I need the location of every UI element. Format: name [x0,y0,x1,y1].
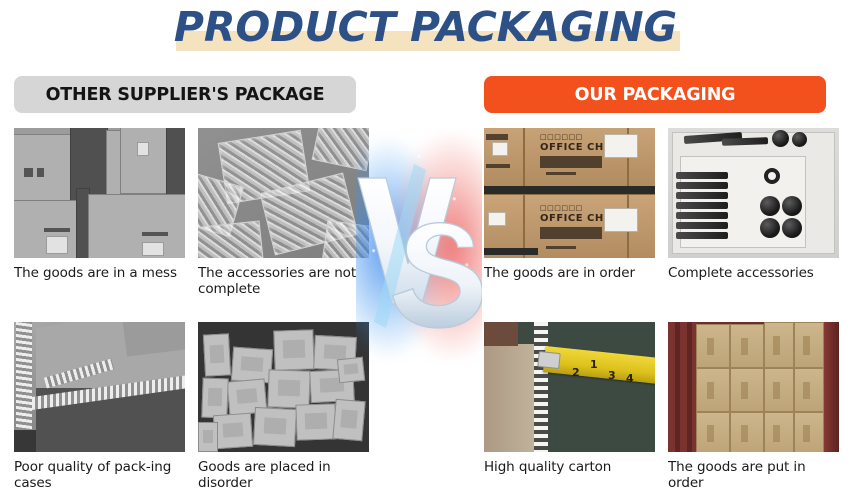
photo-stack-of-plain-grey-cartons [14,128,185,258]
photo-torn-corrugated-carton-edge [14,322,185,452]
photo-printed-office-chair-cartons-strapped: □□□□□□ OFFICE CHAIR □□□□□□ OFFICE CHAIR [484,128,655,258]
other-supplier-badge-label: OTHER SUPPLIER'S PACKAGE [46,85,325,105]
list-item: □□□□□□ OFFICE CHAIR □□□□□□ OFFICE CHAIR … [484,128,655,281]
tape-number: 2 [572,366,580,379]
list-item: 2 1 3 4 High quality carton [484,322,655,475]
list-item: The goods are in a mess [14,128,185,281]
tape-number: 4 [626,372,634,385]
photo-loose-poly-bags-of-parts [198,128,369,258]
caption: Poor quality of pack-ing cases [14,459,185,491]
photo-tape-measure-on-carton-wall: 2 1 3 4 [484,322,655,452]
page-title: PRODUCT PACKAGING [0,2,851,52]
caption: The goods are in a mess [14,265,185,281]
page-header: PRODUCT PACKAGING [0,0,851,62]
caption: The goods are put in order [668,459,839,491]
caption: Goods are placed in disorder [198,459,369,491]
other-supplier-badge: OTHER SUPPLIER'S PACKAGE [14,76,356,113]
versus-letters [356,128,482,364]
list-item: The accessories are not complete [198,128,369,297]
photo-accessory-tray-bolts-and-casters [668,128,839,258]
list-item: Goods are placed in disorder [198,322,369,491]
versus-graphic [356,128,482,364]
caption: The goods are in order [484,265,655,281]
list-item: The goods are put in order [668,322,839,491]
caption: The accessories are not complete [198,265,369,297]
caption: High quality carton [484,459,655,475]
list-item: Complete accessories [668,128,839,281]
list-item: Poor quality of pack-ing cases [14,322,185,491]
photo-boxes-stacked-messily-in-container [198,322,369,452]
our-packaging-badge-label: OUR PACKAGING [575,85,736,105]
photo-neat-cartons-loaded-in-container [668,322,839,452]
tape-number: 1 [590,358,598,371]
tape-number: 3 [608,369,616,382]
our-packaging-badge: OUR PACKAGING [484,76,826,113]
caption: Complete accessories [668,265,839,281]
